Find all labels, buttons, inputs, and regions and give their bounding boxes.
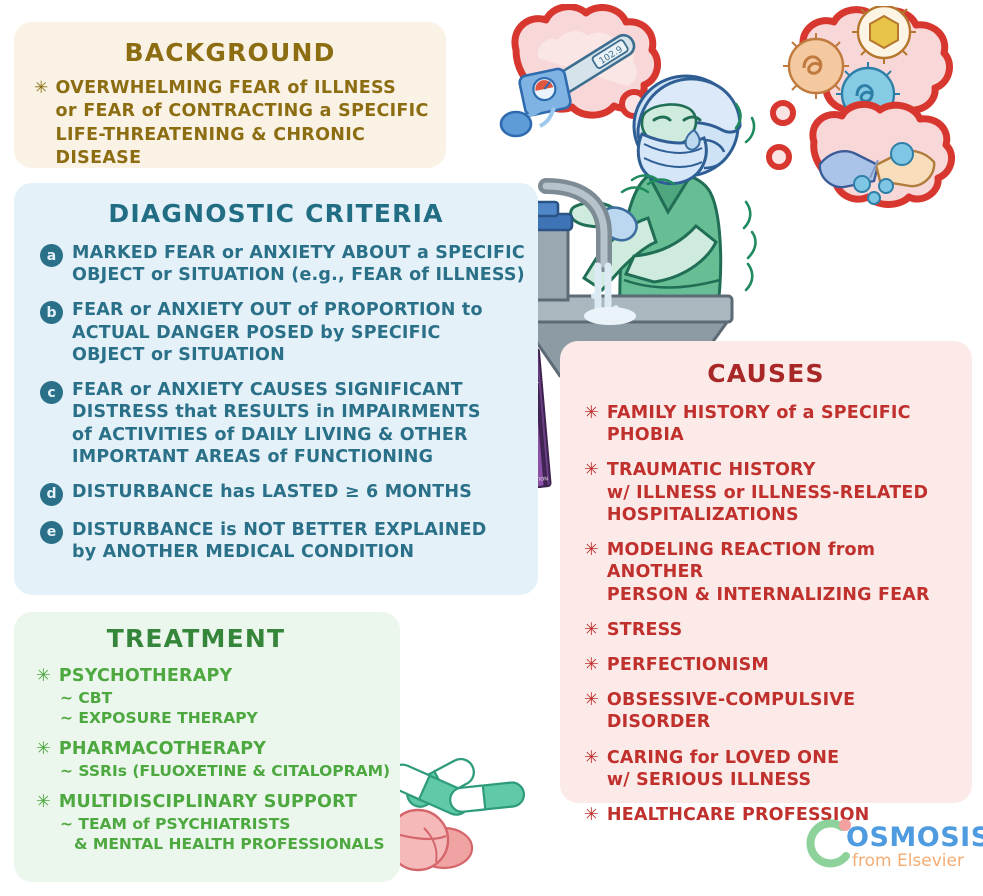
treatment-label: PSYCHOTHERAPY xyxy=(59,665,233,688)
list-item: ✳ PERFECTIONISM xyxy=(584,654,962,676)
list-item: ✳ PHARMACOTHERAPY ~ SSRIs (FLUOXETINE & … xyxy=(36,738,392,781)
thought-bubble-dot-small-a xyxy=(618,88,650,120)
cause-text: MODELING REACTION from ANOTHER PERSON & … xyxy=(607,539,962,606)
list-item: ✳ STRESS xyxy=(584,619,962,641)
background-list: ✳ OVERWHELMING FEAR of ILLNESS or FEAR o… xyxy=(14,77,446,170)
list-item: a MARKED FEAR or ANXIETY ABOUT a SPECIFI… xyxy=(40,242,526,286)
criteria-text-c: FEAR or ANXIETY CAUSES SIGNIFICANT DISTR… xyxy=(72,379,481,468)
asterisk-bullet-icon: ✳ xyxy=(36,791,51,814)
background-title: BACKGROUND xyxy=(14,38,446,67)
criteria-badge-d: d xyxy=(40,483,63,506)
thought-bubble-dot-small-b xyxy=(768,98,798,128)
treatment-sub: & MENTAL HEALTH PROFESSIONALS xyxy=(74,834,392,854)
cause-text: STRESS xyxy=(607,619,683,641)
asterisk-bullet-icon: ✳ xyxy=(36,738,51,761)
asterisk-bullet-icon: ✳ xyxy=(584,804,599,826)
osmosis-wordmark: OSMOSIS xyxy=(846,822,983,853)
treatment-label: PHARMACOTHERAPY xyxy=(59,738,266,761)
list-item: b FEAR or ANXIETY OUT of PROPORTION to A… xyxy=(40,299,526,366)
background-item-text: OVERWHELMING FEAR of ILLNESS or FEAR of … xyxy=(56,77,432,170)
criteria-badge-c: c xyxy=(40,381,63,404)
criteria-text-e: DISTURBANCE is NOT BETTER EXPLAINED by A… xyxy=(72,519,486,563)
diagnostic-criteria-title: DIAGNOSTIC CRITERIA xyxy=(14,199,538,228)
treatment-list: ✳ PSYCHOTHERAPY ~ CBT ~ EXPOSURE THERAPY… xyxy=(14,665,400,854)
criteria-badge-b: b xyxy=(40,301,63,324)
cause-text: FAMILY HISTORY of a SPECIFIC PHOBIA xyxy=(607,402,962,446)
treatment-sub: ~ SSRIs (FLUOXETINE & CITALOPRAM) xyxy=(60,761,392,781)
osmosis-tagline: from Elsevier xyxy=(852,851,964,871)
list-item: ✳ PSYCHOTHERAPY ~ CBT ~ EXPOSURE THERAPY xyxy=(36,665,392,728)
list-item: ✳ MODELING REACTION from ANOTHER PERSON … xyxy=(584,539,962,606)
treatment-sub: ~ EXPOSURE THERAPY xyxy=(60,708,392,728)
treatment-title: TREATMENT xyxy=(14,624,378,653)
thought-bubble-dot-small-c xyxy=(764,142,794,172)
cause-text: TRAUMATIC HISTORY w/ ILLNESS or ILLNESS-… xyxy=(607,459,928,526)
criteria-badge-a: a xyxy=(40,244,63,267)
thought-bubble-handshake xyxy=(786,100,968,212)
asterisk-bullet-icon: ✳ xyxy=(584,539,599,606)
osmosis-logo[interactable]: OSMOSIS from Elsevier xyxy=(806,818,974,880)
svg-text:102.9: 102.9 xyxy=(598,45,625,67)
criteria-list: a MARKED FEAR or ANXIETY ABOUT a SPECIFI… xyxy=(14,242,538,563)
causes-panel: CAUSES ✳ FAMILY HISTORY of a SPECIFIC PH… xyxy=(560,341,972,803)
handwashing-healthcare-worker xyxy=(498,58,790,380)
treatment-label: MULTIDISCIPLINARY SUPPORT xyxy=(59,791,357,814)
treatment-item-multidisciplinary-support: ✳ MULTIDISCIPLINARY SUPPORT xyxy=(36,791,392,814)
treatment-item-psychotherapy: ✳ PSYCHOTHERAPY xyxy=(36,665,392,688)
cause-text: PERFECTIONISM xyxy=(607,654,769,676)
pills-illustration xyxy=(384,748,544,878)
treatment-sub: ~ CBT xyxy=(60,688,392,708)
asterisk-bullet-icon: ✳ xyxy=(36,665,51,688)
criteria-badge-e: e xyxy=(40,521,63,544)
asterisk-bullet-icon: ✳ xyxy=(584,689,599,733)
list-item: ✳ OVERWHELMING FEAR of ILLNESS or FEAR o… xyxy=(34,77,432,170)
treatment-item-pharmacotherapy: ✳ PHARMACOTHERAPY xyxy=(36,738,392,761)
background-panel: BACKGROUND ✳ OVERWHELMING FEAR of ILLNES… xyxy=(14,22,446,168)
thought-bubble-viruses xyxy=(772,6,972,128)
criteria-text-b: FEAR or ANXIETY OUT of PROPORTION to ACT… xyxy=(72,299,483,366)
cause-text: OBSESSIVE-COMPULSIVE DISORDER xyxy=(607,689,962,733)
thought-bubble-fever: 102.9 xyxy=(476,4,662,144)
asterisk-bullet-icon: ✳ xyxy=(34,77,49,170)
list-item: ✳ CARING for LOVED ONE w/ SERIOUS ILLNES… xyxy=(584,747,962,791)
asterisk-bullet-icon: ✳ xyxy=(584,747,599,791)
list-item: ✳ FAMILY HISTORY of a SPECIFIC PHOBIA xyxy=(584,402,962,446)
asterisk-bullet-icon: ✳ xyxy=(584,654,599,676)
list-item: d DISTURBANCE has LASTED ≥ 6 MONTHS xyxy=(40,481,526,506)
cause-text: CARING for LOVED ONE w/ SERIOUS ILLNESS xyxy=(607,747,839,791)
asterisk-bullet-icon: ✳ xyxy=(584,459,599,526)
treatment-panel: TREATMENT ✳ PSYCHOTHERAPY ~ CBT ~ EXPOSU… xyxy=(14,612,400,882)
criteria-text-a: MARKED FEAR or ANXIETY ABOUT a SPECIFIC … xyxy=(72,242,525,286)
list-item: e DISTURBANCE is NOT BETTER EXPLAINED by… xyxy=(40,519,526,563)
causes-title: CAUSES xyxy=(560,359,972,388)
causes-list: ✳ FAMILY HISTORY of a SPECIFIC PHOBIA ✳ … xyxy=(560,402,972,826)
criteria-text-d: DISTURBANCE has LASTED ≥ 6 MONTHS xyxy=(72,481,472,506)
list-item: ✳ MULTIDISCIPLINARY SUPPORT ~ TEAM of PS… xyxy=(36,791,392,854)
asterisk-bullet-icon: ✳ xyxy=(584,619,599,641)
list-item: c FEAR or ANXIETY CAUSES SIGNIFICANT DIS… xyxy=(40,379,526,468)
list-item: ✳ TRAUMATIC HISTORY w/ ILLNESS or ILLNES… xyxy=(584,459,962,526)
diagnostic-criteria-panel: DIAGNOSTIC CRITERIA a MARKED FEAR or ANX… xyxy=(14,183,538,595)
treatment-sub: ~ TEAM of PSYCHIATRISTS xyxy=(60,814,392,834)
list-item: ✳ OBSESSIVE-COMPULSIVE DISORDER xyxy=(584,689,962,733)
asterisk-bullet-icon: ✳ xyxy=(584,402,599,446)
